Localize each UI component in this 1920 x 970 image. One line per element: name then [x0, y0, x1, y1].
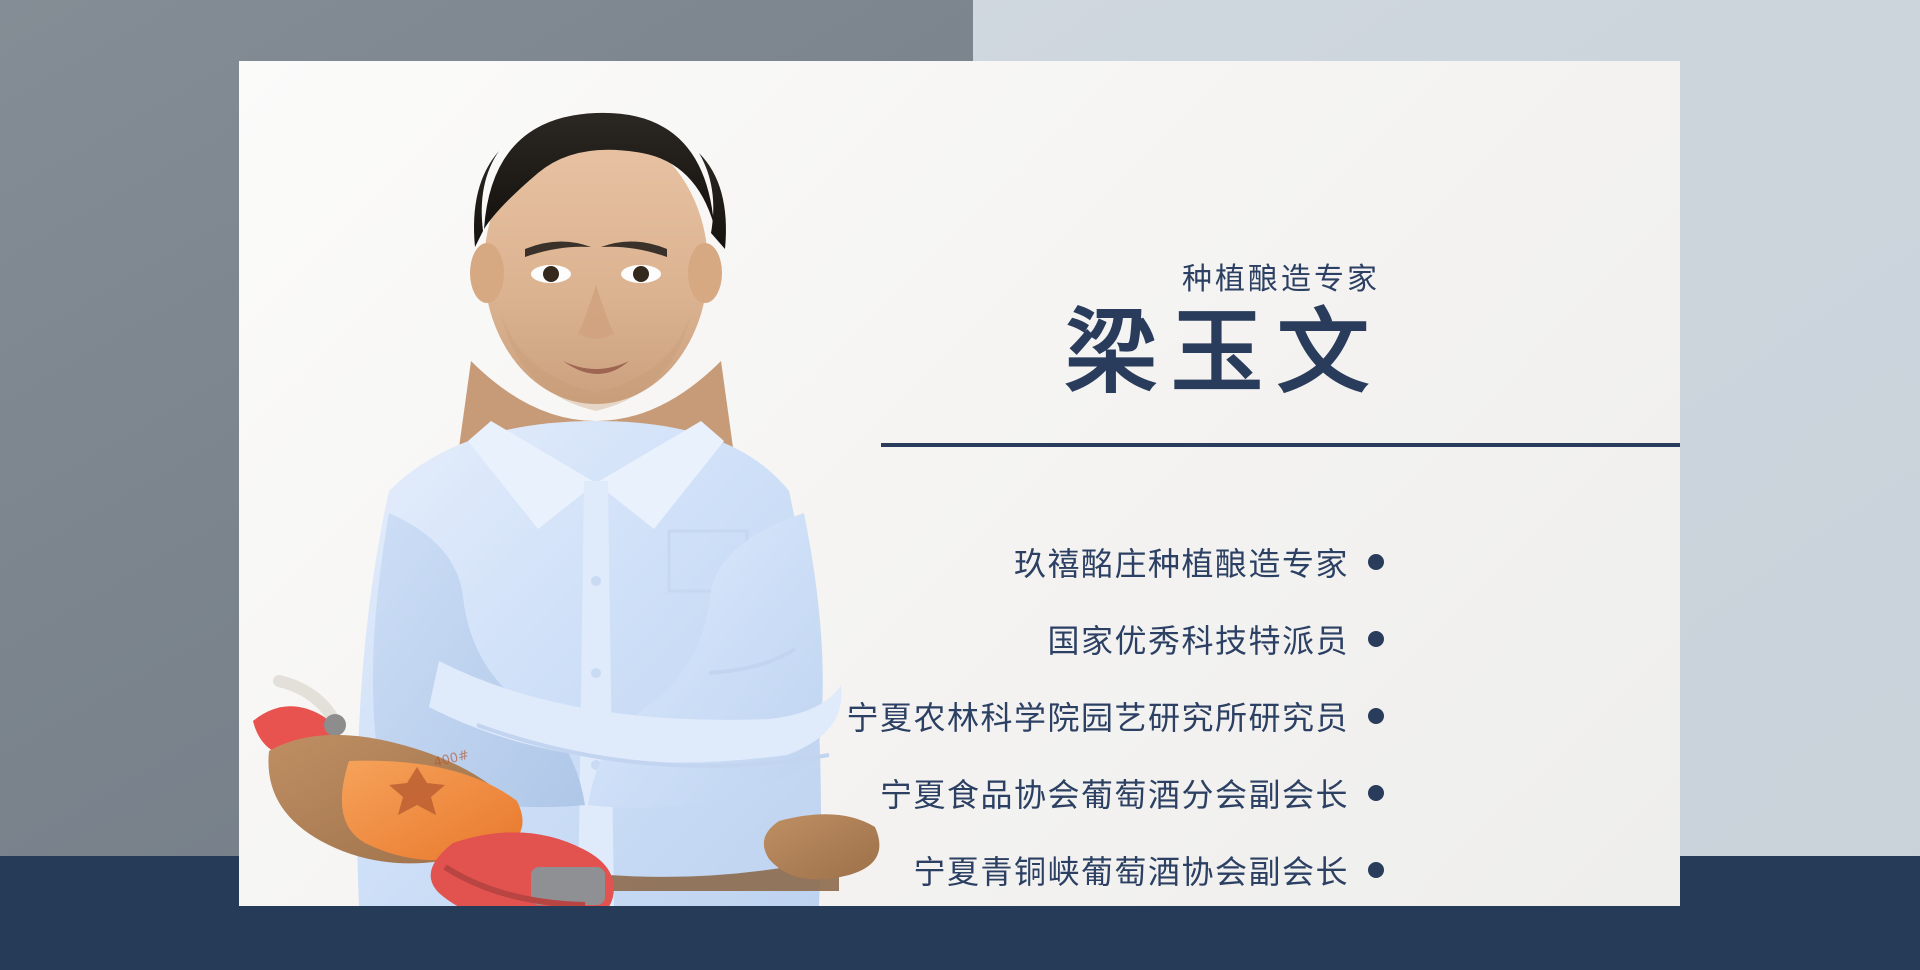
list-item: 宁夏食品协会葡萄酒分会副会长 — [880, 770, 1384, 816]
list-item: 宁夏青铜峡葡萄酒协会副会长 — [913, 847, 1384, 893]
portrait-photo: 400# — [239, 61, 939, 906]
bullet-dot-icon — [1368, 862, 1384, 878]
credential-text: 宁夏食品协会葡萄酒分会副会长 — [880, 770, 1349, 816]
bullet-dot-icon — [1368, 785, 1384, 801]
bullet-dot-icon — [1368, 708, 1384, 724]
credential-text: 国家优秀科技特派员 — [1047, 616, 1349, 662]
portrait-illustration: 400# — [239, 61, 939, 906]
credential-text: 宁夏青铜峡葡萄酒协会副会长 — [913, 847, 1349, 893]
credential-text: 玖禧酩庄种植酿造专家 — [1014, 539, 1349, 585]
list-item: 国家优秀科技特派员 — [1047, 616, 1384, 662]
poster-canvas: 种植酿造专家 梁玉文 玖禧酩庄种植酿造专家 国家优秀科技特派员 宁夏农林科学院园… — [0, 0, 1920, 970]
bullet-dot-icon — [1368, 631, 1384, 647]
bullet-dot-icon — [1368, 554, 1384, 570]
divider — [881, 439, 1680, 451]
list-item: 玖禧酩庄种植酿造专家 — [1014, 539, 1384, 585]
role-subtitle: 种植酿造专家 — [1182, 254, 1380, 298]
divider-line — [881, 443, 1680, 447]
person-name: 梁玉文 — [1065, 303, 1383, 404]
